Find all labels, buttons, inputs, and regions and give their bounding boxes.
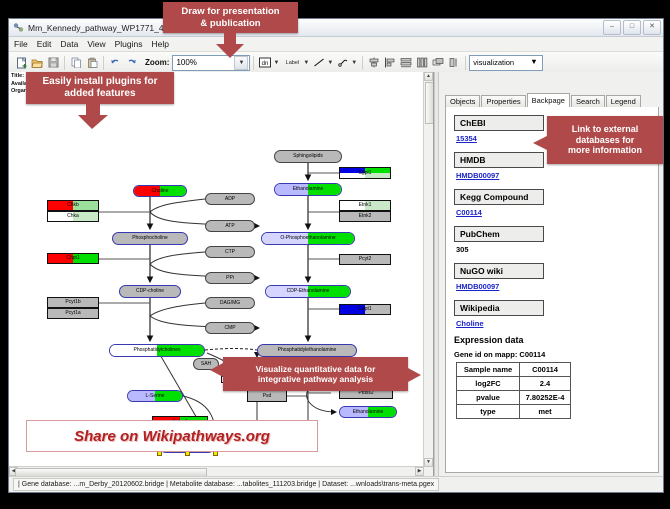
node-label: CDP-Ethanolamine [287,289,330,294]
node-label: Cept1 [358,307,371,312]
zoom-value: 100% [176,58,196,67]
chevron-down-icon[interactable]: ▼ [273,60,279,66]
gene-node-chpt1[interactable]: Chpt1 [47,253,99,264]
gene-node-etnk1[interactable]: Etnk1 [339,200,391,211]
backpage-link-kegg-compound[interactable]: C00114 [456,208,650,217]
gene-node-etnk2[interactable]: Etnk2 [339,211,391,222]
svg-text:dn: dn [262,61,269,67]
pathway-canvas[interactable]: Title: Availa Organi [9,72,434,477]
share-banner-text: Share on Wikipathways.org [74,428,270,445]
callout-links: Link to externaldatabases formore inform… [547,116,663,164]
backpage-header-pubchem: PubChem [454,226,544,242]
table-cell-value: 7.80252E-4 [520,391,571,405]
expression-data-table: Sample nameC00114log2FC2.4pvalue7.80252E… [456,362,571,419]
save-icon[interactable] [45,55,61,71]
callout-text: Visualize quantitative data forintegrati… [256,364,376,385]
share-banner: Share on Wikipathways.org [26,420,318,452]
menu-item-edit[interactable]: Edit [37,39,52,49]
node-label: Psd [263,394,272,399]
node-label: DAG/MG [220,301,240,306]
chevron-down-icon[interactable]: ▼ [327,60,333,66]
canvas-vertical-scrollbar[interactable]: ▲ ▼ [423,72,433,476]
node-label: Ethanolamine [353,410,384,415]
table-cell-key: log2FC [457,377,520,391]
close-button[interactable]: ✕ [643,20,661,35]
open-folder-icon[interactable] [29,55,45,71]
menu-item-view[interactable]: View [87,39,105,49]
metabolite-node-ctp[interactable]: CTP [205,246,255,258]
chevron-down-icon[interactable]: ▼ [234,56,248,70]
table-row: log2FC2.4 [457,377,571,391]
metabolite-node-cdp-choline[interactable]: CDP-choline [119,285,181,298]
backpage-header-nugo-wiki: NuGO wiki [454,263,544,279]
backpage-header-chebi: ChEBI [454,115,544,131]
table-cell-key: Sample name [457,363,520,377]
tab-search[interactable]: Search [571,95,605,107]
bring-front-icon[interactable] [430,55,446,71]
toolbar-separator [465,56,466,70]
gene-node-chkb[interactable]: Chkb [47,200,99,211]
table-cell-value: met [520,405,571,419]
status-bar: | Gene database: ...m_Derby_20120602.bri… [9,476,663,492]
menu-item-data[interactable]: Data [60,39,78,49]
backpage-link-nugo-wiki[interactable]: HMDB00097 [456,282,650,291]
node-label: PPi [226,276,234,281]
node-label: Choline [152,189,169,194]
label-menu-button[interactable]: Label [281,55,303,71]
window-buttons: – □ ✕ [603,20,661,35]
align-center-icon[interactable] [366,55,382,71]
backpage-header-hmdb: HMDB [454,152,544,168]
tab-backpage[interactable]: Backpage [527,93,570,108]
node-label: Ptdss2 [358,391,373,396]
table-row: Sample nameC00114 [457,363,571,377]
node-label: Phosphatidylcholines [134,348,181,353]
gene-id-label: Gene id on mapp: C00114 [454,350,650,359]
node-label: Sgpl1 [359,171,372,176]
scroll-up-icon[interactable]: ▲ [424,72,433,81]
node-label: Phosphocholine [132,236,168,241]
chevron-down-icon[interactable]: ▼ [530,57,541,68]
node-label: ATP [225,224,234,229]
callout-plugins: Easily install plugins foradded features [26,72,174,104]
metabolite-node-l-serine-left[interactable]: L-Serine [127,390,183,402]
screenshot-root: Mm_Kennedy_pathway_WP1771_45176.gpml – □… [0,0,670,509]
status-bar-text: | Gene database: ...m_Derby_20120602.bri… [13,478,439,491]
node-label: Ethanolamine [293,187,324,192]
callout-draw: Draw for presentation& publication [163,2,298,33]
canvas-vscroll-thumb[interactable] [425,82,434,124]
tab-properties[interactable]: Properties [481,95,525,107]
expression-data-title: Expression data [454,335,650,345]
toolbar-separator [103,56,104,70]
node-label: Sphingolipids [293,154,323,159]
metabolite-node-atp[interactable]: ATP [205,220,255,232]
node-label: Pcyt2 [359,257,372,262]
scroll-down-icon[interactable]: ▼ [424,458,433,467]
node-label: Pcyt1a [65,311,80,316]
table-cell-value: C00114 [520,363,571,377]
node-label: CMP [224,326,235,331]
gene-node-sgpl1[interactable]: Sgpl1 [339,167,391,179]
align-left-icon[interactable] [382,55,398,71]
node-label: CDP-choline [136,289,164,294]
callout-text: Draw for presentation& publication [181,6,279,29]
node-label: CTP [225,250,235,255]
zoom-label: Zoom: [145,58,169,67]
visualization-value: visualization [473,58,514,67]
backpage-header-wikipedia: Wikipedia [454,300,544,316]
gene-node-chka[interactable]: Chka [47,211,99,222]
tool-bar: Zoom: 100% ▼ dn ▼ Label ▼ ▼ ▼ [9,52,663,74]
receptor-icon[interactable] [335,55,351,71]
node-label: Etnk1 [359,203,372,208]
tab-objects[interactable]: Objects [445,95,480,107]
node-label: ADP [225,197,235,202]
node-label: Chkb [67,203,79,208]
callout-text: Link to externaldatabases formore inform… [568,124,642,157]
menu-item-plugins[interactable]: Plugins [115,39,143,49]
metabolite-node-phosphocholine[interactable]: Phosphocholine [112,232,188,245]
metabolite-node-choline-top[interactable]: Choline [133,185,187,197]
pathvisio-icon [13,22,24,33]
toolbar-separator [362,56,363,70]
callout-visualize: Visualize quantitative data forintegrati… [223,357,408,391]
metabolite-node-phosphatidylethanolamine[interactable]: Phosphatidylethanolamine [257,344,357,357]
metabolite-node-ethanolamine-bottom[interactable]: Ethanolamine [339,406,397,418]
node-label: Pcyt1b [65,300,80,305]
minimize-button[interactable]: – [603,20,621,35]
node-label: SAH [201,362,211,367]
table-cell-value: 2.4 [520,377,571,391]
table-row: pvalue7.80252E-4 [457,391,571,405]
backpage-header-kegg-compound: Kegg Compound [454,189,544,205]
visualization-combobox[interactable]: visualization ▼ [469,55,543,71]
metabolite-node-dag-mg[interactable]: DAG/MG [205,297,255,309]
gene-node-pcyt2[interactable]: Pcyt2 [339,254,391,265]
node-label: Phosphatidylethanolamine [278,348,337,353]
callout-text: Easily install plugins foradded features [42,76,157,100]
menu-bar: File Edit Data View Plugins Help [9,37,663,52]
gene-node-cept1[interactable]: Cept1 [339,304,391,315]
tab-legend[interactable]: Legend [606,95,641,107]
metabolite-node-ppi[interactable]: PPi [205,272,255,284]
metabolite-node-phosphatidylcholines[interactable]: Phosphatidylcholines [109,344,205,357]
metabolite-node-sah[interactable]: SAH [193,358,219,370]
same-height-icon[interactable] [414,55,430,71]
node-label: L-Serine [146,394,165,399]
table-row: typemet [457,405,571,419]
node-label: Etnk2 [359,214,372,219]
send-back-icon[interactable] [446,55,462,71]
datanode-icon[interactable]: dn [257,55,273,71]
node-label: Chka [67,214,79,219]
chevron-down-icon[interactable]: ▼ [351,60,357,66]
backpage-link-wikipedia[interactable]: Choline [456,319,650,328]
gene-node-psd[interactable]: Psd [247,390,287,402]
undo-icon[interactable] [107,55,123,71]
zoom-combobox[interactable]: 100% ▼ [172,55,250,71]
menu-item-help[interactable]: Help [152,39,169,49]
gene-node-pcyt1a[interactable]: Pcyt1a [47,308,99,319]
metabolite-node-adp[interactable]: ADP [205,193,255,205]
metabolite-node-ethanolamine-top[interactable]: Ethanolamine [274,183,342,196]
table-cell-key: pvalue [457,391,520,405]
metabolite-node-cmp[interactable]: CMP [205,322,255,334]
title-bar: Mm_Kennedy_pathway_WP1771_45176.gpml – □… [9,19,663,37]
side-panel-tabs: ObjectsPropertiesBackpageSearchLegend [445,94,659,108]
table-cell-key: type [457,405,520,419]
metabolite-node-sphingolipids[interactable]: Sphingolipids [274,150,342,163]
same-width-icon[interactable] [398,55,414,71]
line-icon[interactable] [311,55,327,71]
gene-node-pcyt1b[interactable]: Pcyt1b [47,297,99,308]
chevron-down-icon[interactable]: ▼ [303,60,309,66]
paste-icon[interactable] [84,55,100,71]
backpage-value-pubchem: 305 [456,245,650,254]
menu-item-file[interactable]: File [14,39,28,49]
metabolite-node-o-phosphoethanolamine[interactable]: O-Phosphoethanolamine [261,232,355,245]
node-label: Chpt1 [66,256,79,261]
metabolite-node-cdp-ethanolamine[interactable]: CDP-Ethanolamine [265,285,351,298]
maximize-button[interactable]: □ [623,20,641,35]
backpage-link-hmdb[interactable]: HMDB00097 [456,171,650,180]
toolbar-separator [253,56,254,70]
toolbar-separator [64,56,65,70]
node-label: O-Phosphoethanolamine [280,236,335,241]
redo-icon[interactable] [123,55,139,71]
scroll-right-icon[interactable]: ▶ [415,467,424,476]
copy-icon[interactable] [68,55,84,71]
new-file-icon[interactable] [13,55,29,71]
canvas-horizontal-scrollbar[interactable]: ◀ ▶ [9,466,424,476]
